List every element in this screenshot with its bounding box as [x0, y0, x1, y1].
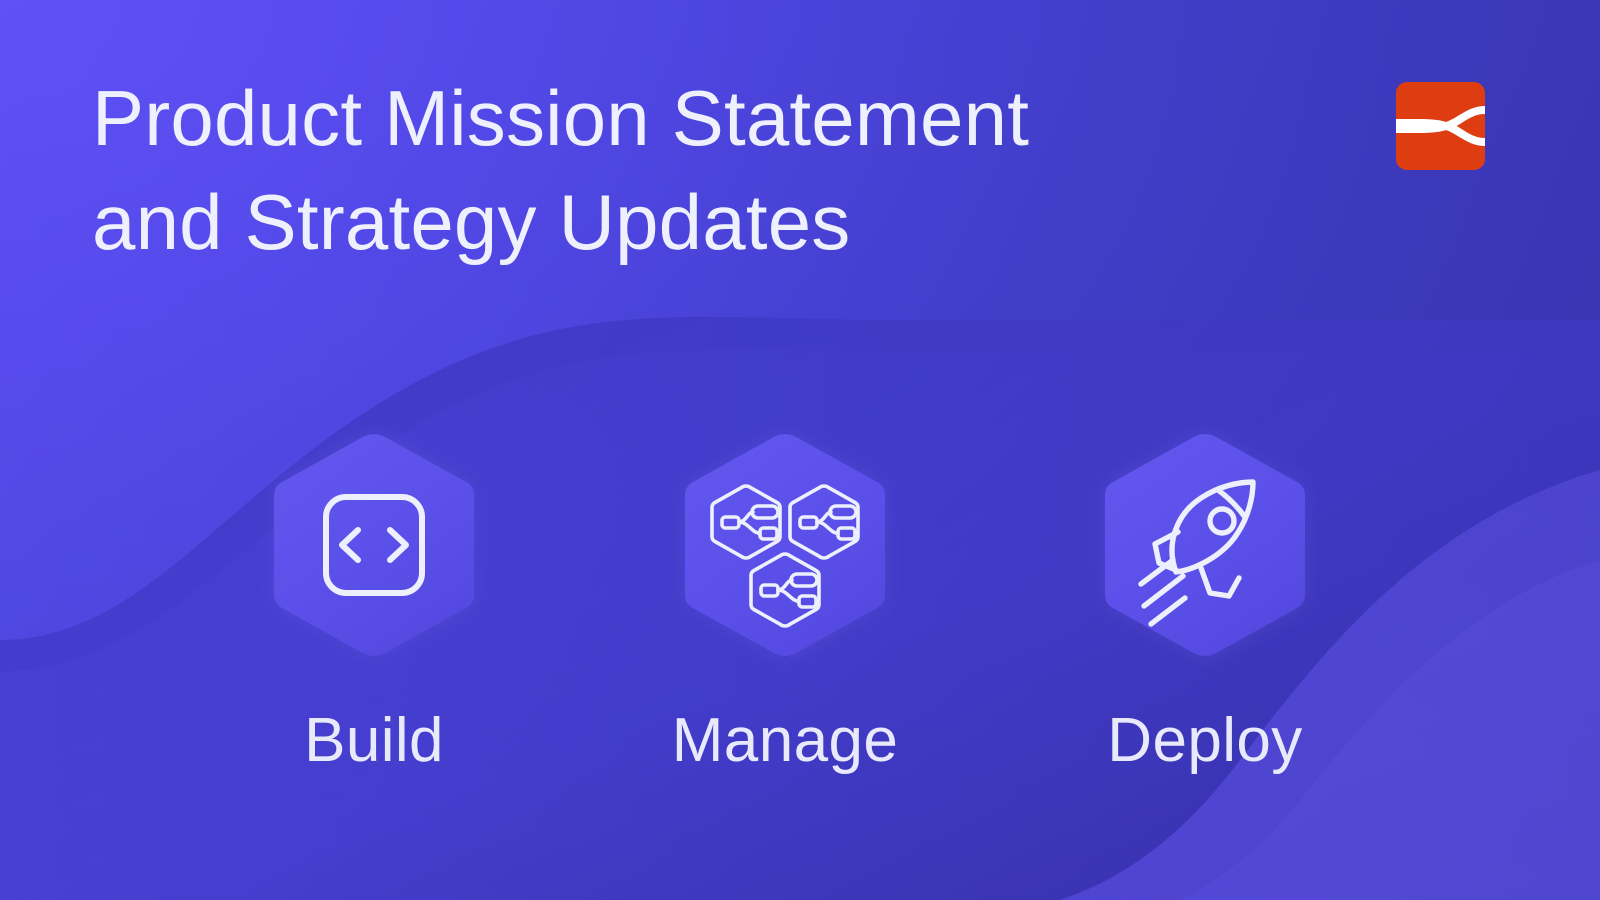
- pillar-build[interactable]: Build: [214, 420, 534, 773]
- pillars-row: Build: [0, 420, 1600, 840]
- slide-canvas: Product Mission Statement and Strategy U…: [0, 0, 1600, 900]
- page-title: Product Mission Statement and Strategy U…: [92, 66, 1272, 274]
- pillar-label-build: Build: [214, 708, 534, 773]
- brand-logo: [1396, 82, 1485, 170]
- hexagon-badge-manage: [625, 420, 945, 670]
- converging-lines-icon: [1396, 106, 1485, 146]
- pillar-label-deploy: Deploy: [1045, 708, 1365, 773]
- pillar-label-manage: Manage: [625, 708, 945, 773]
- hexagon-badge-deploy: [1045, 420, 1365, 670]
- hexagon-badge-build: [214, 420, 534, 670]
- pillar-deploy[interactable]: Deploy: [1045, 420, 1365, 773]
- pillar-manage[interactable]: Manage: [625, 420, 945, 773]
